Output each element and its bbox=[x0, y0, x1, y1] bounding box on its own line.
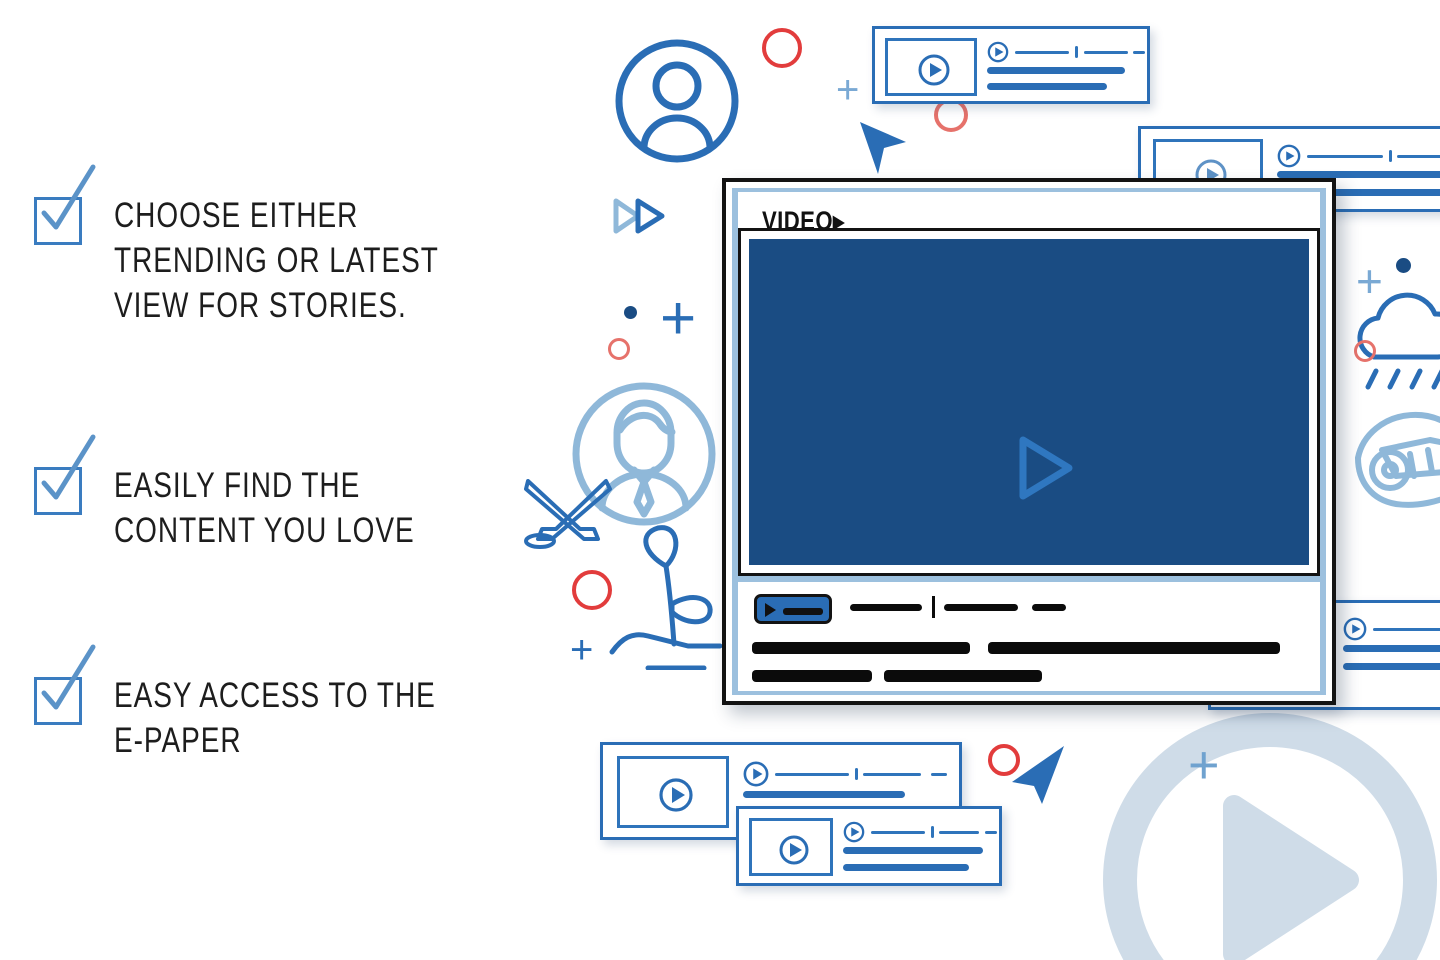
play-circle-icon bbox=[658, 777, 694, 813]
meta-line bbox=[850, 604, 922, 611]
meta-line bbox=[1084, 51, 1128, 54]
play-circle-icon bbox=[987, 41, 1009, 63]
checkmark-icon bbox=[30, 161, 100, 245]
meta-line bbox=[1015, 51, 1069, 54]
play-circle-icon bbox=[843, 821, 865, 843]
play-circle-watermark-icon bbox=[1090, 700, 1440, 960]
card-thumbnail bbox=[885, 38, 977, 96]
headline-line bbox=[884, 670, 1042, 682]
fast-forward-icon bbox=[612, 195, 668, 237]
card-thumbnail bbox=[617, 756, 729, 828]
plus-icon: + bbox=[570, 630, 593, 670]
meta-line bbox=[871, 831, 925, 834]
feature-item-choose-view: Choose either trending or latest view fo… bbox=[30, 185, 654, 328]
red-ring-icon bbox=[1354, 340, 1376, 362]
cursor-arrow-icon bbox=[856, 118, 908, 176]
headline-line bbox=[987, 67, 1125, 74]
promo-graphic: Choose either trending or latest view fo… bbox=[0, 0, 1440, 960]
meta-separator bbox=[855, 768, 858, 780]
meta-separator bbox=[932, 596, 935, 618]
feature-label: Easy access to the E-Paper bbox=[114, 665, 546, 763]
feature-label: Choose either trending or latest view fo… bbox=[114, 185, 546, 328]
headline-line bbox=[843, 864, 969, 871]
meta-separator bbox=[931, 826, 934, 838]
feature-item-epaper-access: Easy access to the E-Paper bbox=[30, 665, 654, 763]
meta-line bbox=[944, 604, 1018, 611]
video-player-window[interactable]: VIDEO▸ bbox=[722, 178, 1336, 705]
feature-list: Choose either trending or latest view fo… bbox=[0, 0, 520, 960]
checkbox-checked-icon bbox=[30, 455, 86, 511]
checkmark-icon bbox=[30, 641, 100, 725]
headline-line bbox=[752, 642, 970, 654]
meta-line bbox=[1373, 628, 1440, 631]
play-button-label-bar bbox=[783, 608, 823, 615]
red-ring-icon bbox=[608, 338, 630, 360]
video-meta-panel bbox=[738, 582, 1320, 691]
meta-separator bbox=[1389, 150, 1392, 162]
red-ring-icon bbox=[988, 744, 1020, 776]
red-ring-icon bbox=[762, 28, 802, 68]
play-circle-icon bbox=[1277, 144, 1301, 168]
plus-icon: + bbox=[660, 288, 696, 350]
card-thumbnail bbox=[749, 818, 833, 876]
checkbox-checked-icon bbox=[30, 665, 86, 721]
plus-icon: + bbox=[836, 70, 859, 110]
dot-icon bbox=[624, 306, 637, 319]
meta-line bbox=[775, 773, 849, 776]
video-screen[interactable] bbox=[749, 239, 1309, 565]
headline-line bbox=[1343, 663, 1440, 670]
red-ring-icon bbox=[572, 570, 612, 610]
headline-line bbox=[1277, 171, 1440, 178]
meta-line bbox=[1133, 51, 1145, 54]
checkbox-checked-icon bbox=[30, 185, 86, 241]
meta-line bbox=[1032, 604, 1066, 611]
dot-icon bbox=[1396, 258, 1411, 273]
meta-line bbox=[1397, 155, 1440, 158]
plus-icon: + bbox=[1356, 258, 1383, 304]
meta-separator bbox=[1075, 46, 1078, 58]
video-screen-frame bbox=[738, 228, 1320, 576]
headline-line bbox=[743, 791, 905, 798]
sports-helmet-icon bbox=[1348, 398, 1440, 538]
headline-line bbox=[752, 670, 872, 682]
user-avatar-icon bbox=[614, 38, 740, 164]
play-circle-icon bbox=[917, 53, 951, 87]
headline-line bbox=[987, 83, 1107, 90]
meta-line bbox=[863, 773, 921, 776]
meta-line bbox=[931, 773, 947, 776]
headline-line bbox=[843, 847, 983, 854]
play-circle-icon bbox=[778, 834, 810, 866]
headline-line bbox=[988, 642, 1280, 654]
video-card-top-right[interactable] bbox=[872, 26, 1150, 104]
meta-line bbox=[1307, 155, 1383, 158]
play-circle-icon bbox=[743, 761, 769, 787]
feature-label: Easily find the content you love bbox=[114, 455, 546, 553]
checkmark-icon bbox=[30, 431, 100, 515]
plus-icon: + bbox=[1188, 738, 1220, 792]
window-title-bar: VIDEO▸ bbox=[738, 192, 1320, 228]
play-circle-icon bbox=[1343, 617, 1367, 641]
play-triangle-icon bbox=[765, 603, 776, 617]
play-button[interactable] bbox=[754, 594, 832, 624]
headline-line bbox=[1343, 645, 1440, 652]
video-card-bottom-front[interactable] bbox=[736, 806, 1002, 886]
meta-line bbox=[939, 831, 979, 834]
play-triangle-icon[interactable] bbox=[1013, 434, 1075, 502]
meta-line bbox=[985, 831, 997, 834]
